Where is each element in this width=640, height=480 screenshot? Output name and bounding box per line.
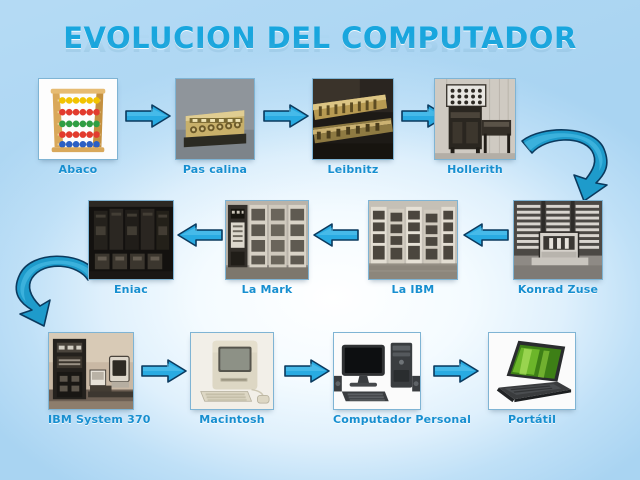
node-label: IBM System 370	[48, 413, 134, 426]
pascaline-image	[175, 78, 255, 160]
page-title-reflection: EVOLUCION DEL COMPUTADOR	[0, 30, 640, 54]
hollerith-tabulator-image	[434, 78, 516, 160]
arrow-right-r3-2	[283, 358, 331, 384]
node-label: Pas calina	[175, 163, 255, 176]
desktop-pc-image	[333, 332, 421, 410]
node-leibnitz[interactable]: Leibnitz	[312, 78, 394, 176]
node-la-ibm[interactable]: La IBM	[368, 200, 458, 296]
laptop-image	[488, 332, 576, 410]
arrow-right-r3-3	[432, 358, 480, 384]
mark-computer-image	[225, 200, 309, 280]
arrow-left-r2-2	[312, 222, 360, 248]
node-label: La Mark	[225, 283, 309, 296]
eniac-image	[88, 200, 174, 280]
page-title: EVOLUCION DEL COMPUTADOR EVOLUCION DEL C…	[0, 24, 640, 83]
node-label: Eniac	[88, 283, 174, 296]
arrow-right-r3-1	[140, 358, 188, 384]
arrow-right-r1-2	[262, 103, 310, 129]
node-label: Abaco	[38, 163, 118, 176]
slide-canvas: EVOLUCION DEL COMPUTADOR EVOLUCION DEL C…	[0, 0, 640, 480]
node-konrad-zuse[interactable]: Konrad Zuse	[513, 200, 603, 296]
node-pas-calina[interactable]: Pas calina	[175, 78, 255, 176]
node-label: Macintosh	[190, 413, 274, 426]
node-label: Konrad Zuse	[513, 283, 603, 296]
node-macintosh[interactable]: Macintosh	[190, 332, 274, 426]
node-label: Computador Personal	[333, 413, 421, 426]
arrow-left-r2-3	[462, 222, 510, 248]
node-label: Leibnitz	[312, 163, 394, 176]
leibnitz-machine-image	[312, 78, 394, 160]
node-label: Hollerith	[434, 163, 516, 176]
macintosh-image	[190, 332, 274, 410]
ibm-system-370-image	[48, 332, 134, 410]
ibm-mainframe-image	[368, 200, 458, 280]
node-computador-personal[interactable]: Computador Personal	[333, 332, 421, 426]
node-abaco[interactable]: Abaco	[38, 78, 118, 176]
node-la-mark[interactable]: La Mark	[225, 200, 309, 296]
arrow-left-r2-1	[176, 222, 224, 248]
curved-arrow-down-left	[512, 123, 622, 203]
node-label: La IBM	[368, 283, 458, 296]
arrow-right-r1-1	[124, 103, 172, 129]
konrad-zuse-machine-image	[513, 200, 603, 280]
node-eniac[interactable]: Eniac	[88, 200, 174, 296]
node-portatil[interactable]: Portátil	[488, 332, 576, 426]
node-ibm-system-370[interactable]: IBM System 370	[48, 332, 134, 426]
node-hollerith[interactable]: Hollerith	[434, 78, 516, 176]
abacus-image	[38, 78, 118, 160]
node-label: Portátil	[488, 413, 576, 426]
